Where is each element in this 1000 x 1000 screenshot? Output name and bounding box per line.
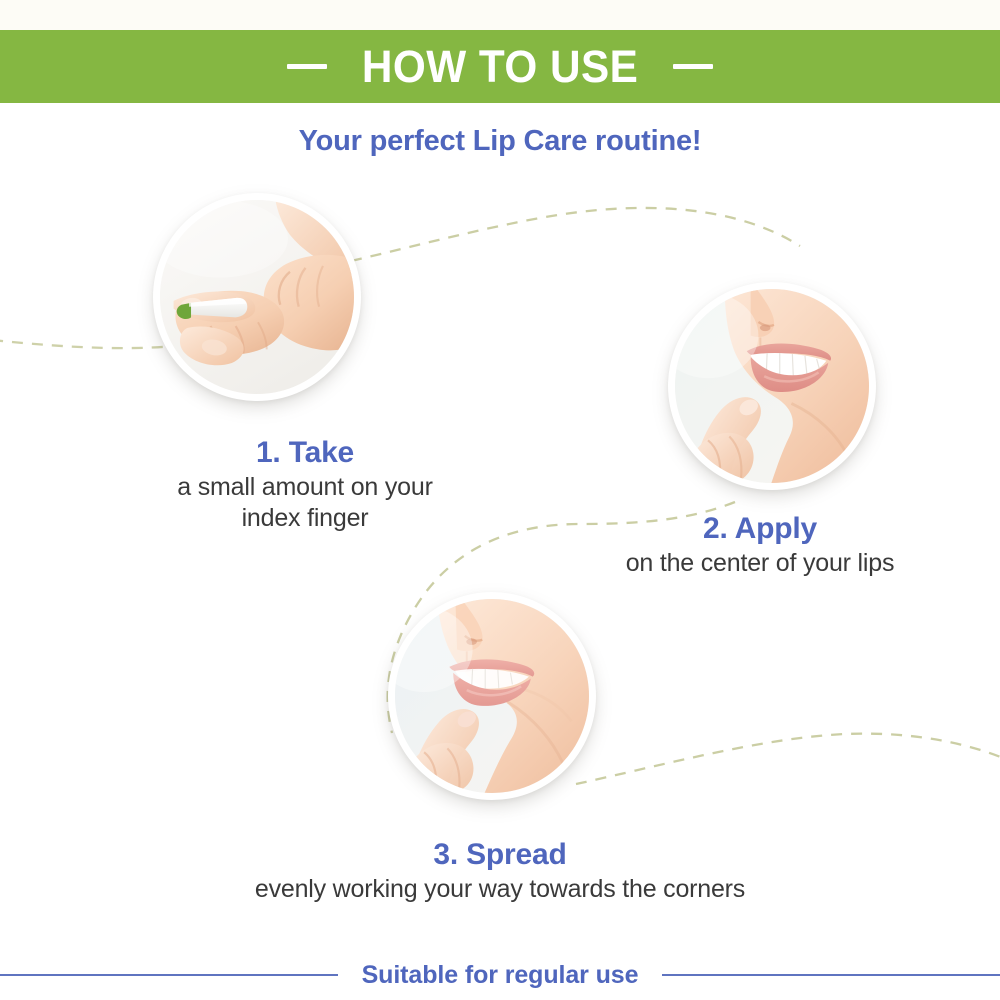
step-caption-take: 1. Take a small amount on your index fin…	[55, 436, 555, 534]
step-title-spread: 3. Spread	[120, 838, 880, 872]
header-dash-right-icon	[673, 64, 713, 69]
step-description-take-line-1: a small amount on your	[177, 473, 432, 501]
step-title-apply: 2. Apply	[520, 512, 1000, 546]
footer: Suitable for regular use	[0, 950, 1000, 1000]
dashed-connector-4	[576, 734, 1000, 784]
step-image-spread	[388, 592, 596, 800]
footer-rule-left	[0, 974, 338, 976]
subtitle: Your perfect Lip Care routine!	[0, 125, 1000, 158]
step-caption-spread: 3. Spread evenly working your way toward…	[120, 838, 880, 905]
step-description-take: a small amount on your index finger	[55, 472, 555, 534]
step-title-take: 1. Take	[55, 436, 555, 470]
step-description-spread: evenly working your way towards the corn…	[120, 874, 880, 905]
footer-rule-right	[662, 974, 1000, 976]
footer-text: Suitable for regular use	[338, 961, 663, 990]
finger-spreading-balm-across-lips-photo	[395, 599, 589, 793]
step-description-apply: on the center of your lips	[520, 548, 1000, 579]
step-description-take-line-2: index finger	[242, 504, 369, 532]
step-image-take	[153, 193, 361, 401]
top-strip	[0, 0, 1000, 30]
hands-holding-lip-balm-tube-photo	[160, 200, 354, 394]
step-image-apply	[668, 282, 876, 490]
header-dash-left-icon	[287, 64, 327, 69]
page-title: HOW TO USE	[362, 44, 639, 89]
header-bar: HOW TO USE	[0, 30, 1000, 103]
finger-applying-balm-to-center-of-lips-photo	[675, 289, 869, 483]
step-caption-apply: 2. Apply on the center of your lips	[520, 512, 1000, 579]
